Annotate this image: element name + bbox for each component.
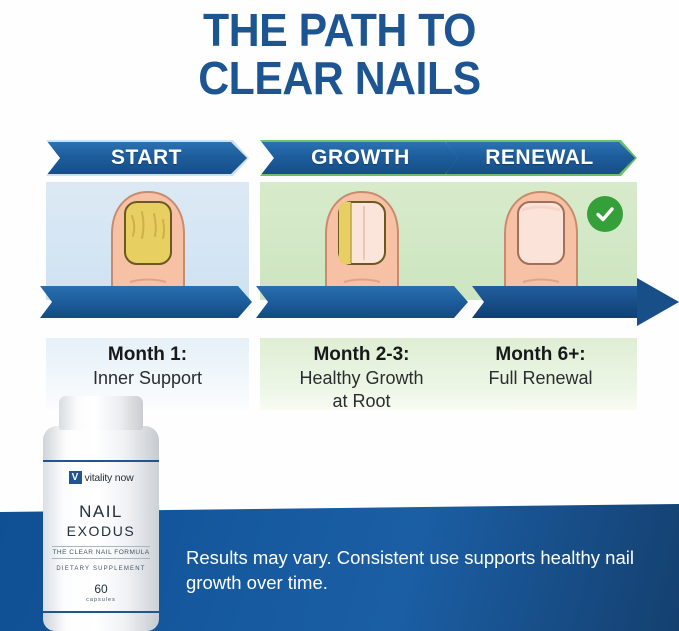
infographic-root: THE PATH TO CLEAR NAILS START Month 1: I… bbox=[0, 0, 679, 631]
stage-caption-renewal: Month 6+: Full Renewal bbox=[444, 338, 637, 410]
product-name-line-2: EXODUS bbox=[43, 523, 159, 539]
caption-sub: Healthy Growth at Root bbox=[260, 367, 463, 413]
stage-banner-wrap: RENEWAL bbox=[444, 140, 637, 176]
stage-image-growth bbox=[260, 182, 463, 300]
progress-arrow-bar bbox=[40, 286, 679, 318]
product-name-line-1: NAIL bbox=[43, 502, 159, 522]
product-count: 60 bbox=[43, 582, 159, 596]
page-title: THE PATH TO CLEAR NAILS bbox=[24, 6, 655, 102]
yellow-discolored-nail-icon bbox=[102, 186, 194, 300]
title-line-2: CLEAR NAILS bbox=[24, 54, 655, 102]
stage-growth: GROWTH Month 2-3: Healthy Growth at Root bbox=[260, 140, 463, 410]
product-count-unit: capsules bbox=[43, 597, 159, 603]
stage-caption-growth: Month 2-3: Healthy Growth at Root bbox=[260, 338, 463, 410]
caption-title: Month 2-3: bbox=[260, 342, 463, 367]
stages-container: START Month 1: Inner Support GROWTH bbox=[0, 140, 679, 390]
disclaimer-text: Results may vary. Consistent use support… bbox=[186, 545, 646, 595]
stage-banner-renewal: RENEWAL bbox=[444, 142, 635, 174]
brand-logo: V vitality now bbox=[43, 471, 159, 484]
check-icon bbox=[587, 196, 623, 232]
caption-sub: Full Renewal bbox=[444, 367, 637, 390]
stage-banner-wrap: START bbox=[46, 140, 249, 176]
brand-name: vitality now bbox=[85, 472, 134, 484]
v-logo-icon: V bbox=[69, 471, 82, 484]
bottle-cap bbox=[59, 396, 143, 430]
stage-banner-start: START bbox=[46, 142, 247, 174]
caption-sub: Inner Support bbox=[46, 367, 249, 390]
stage-renewal: RENEWAL Month 6+: Full Renewal bbox=[444, 140, 637, 410]
stage-image-start bbox=[46, 182, 249, 300]
bottle-label: V vitality now NAIL EXODUS THE CLEAR NAI… bbox=[43, 460, 159, 613]
caption-title: Month 6+: bbox=[444, 342, 637, 367]
product-bottle: V vitality now NAIL EXODUS THE CLEAR NAI… bbox=[37, 396, 165, 631]
half-yellow-half-clear-nail-icon bbox=[316, 186, 408, 300]
caption-title: Month 1: bbox=[46, 342, 249, 367]
stage-banner-wrap: GROWTH bbox=[260, 140, 463, 176]
product-formula: THE CLEAR NAIL FORMULA bbox=[52, 546, 149, 559]
clear-healthy-nail-icon bbox=[495, 186, 587, 300]
stage-start: START Month 1: Inner Support bbox=[46, 140, 249, 410]
arrow-segment-2 bbox=[256, 286, 468, 318]
title-line-1: THE PATH TO bbox=[24, 6, 655, 54]
stage-image-renewal bbox=[444, 182, 637, 300]
arrow-segment-1 bbox=[40, 286, 252, 318]
stage-banner-growth: GROWTH bbox=[260, 142, 461, 174]
product-supplement-label: DIETARY SUPPLEMENT bbox=[43, 566, 159, 572]
